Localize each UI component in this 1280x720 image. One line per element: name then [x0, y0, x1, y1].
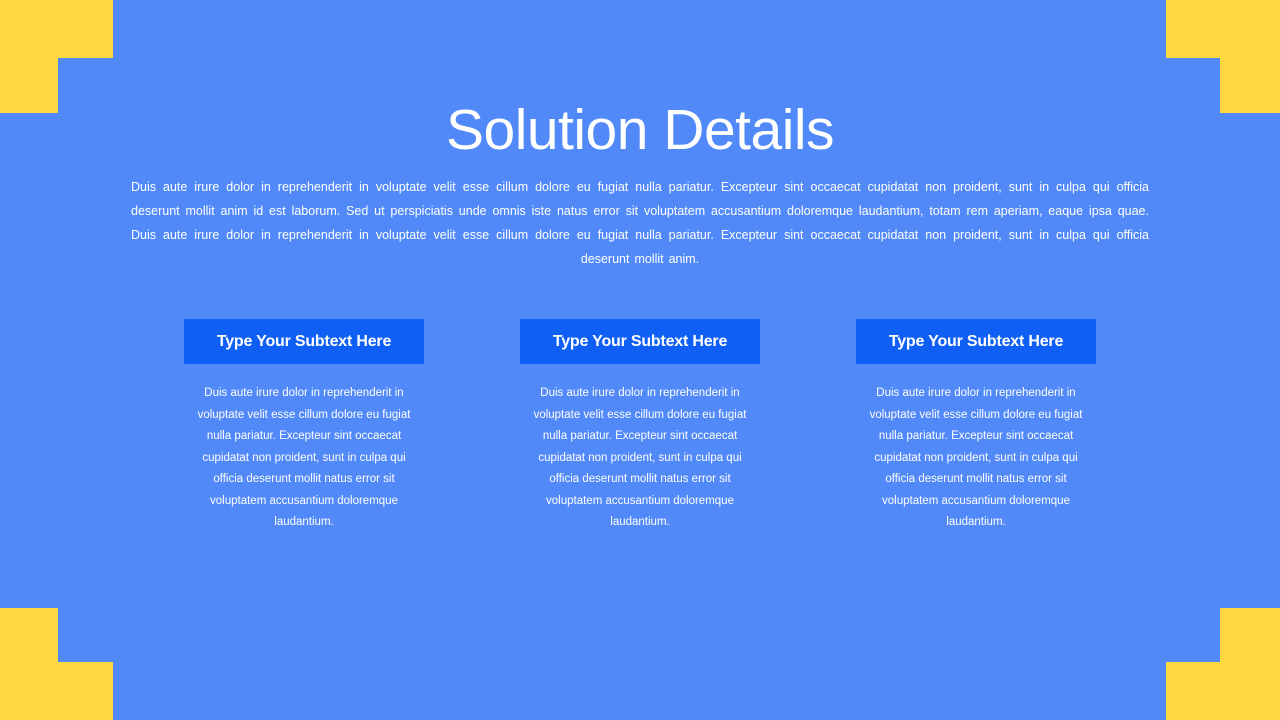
card-heading: Type Your Subtext Here: [520, 319, 760, 364]
slide-canvas: Solution Details Duis aute irure dolor i…: [0, 0, 1280, 720]
card-body-text: Duis aute irure dolor in reprehenderit i…: [856, 383, 1096, 534]
corner-decoration-bottom-right-wide: [1166, 662, 1280, 720]
content-card: Type Your Subtext Here Duis aute irure d…: [856, 319, 1096, 534]
card-heading: Type Your Subtext Here: [184, 319, 424, 364]
intro-paragraph: Duis aute irure dolor in reprehenderit i…: [131, 175, 1149, 271]
slide-title: Solution Details: [0, 95, 1280, 165]
card-heading: Type Your Subtext Here: [856, 319, 1096, 364]
content-card: Type Your Subtext Here Duis aute irure d…: [184, 319, 424, 534]
card-body-text: Duis aute irure dolor in reprehenderit i…: [520, 383, 760, 534]
card-group: Type Your Subtext Here Duis aute irure d…: [0, 319, 1280, 534]
corner-decoration-bottom-left-wide: [0, 662, 113, 720]
card-body-text: Duis aute irure dolor in reprehenderit i…: [184, 383, 424, 534]
content-card: Type Your Subtext Here Duis aute irure d…: [520, 319, 760, 534]
